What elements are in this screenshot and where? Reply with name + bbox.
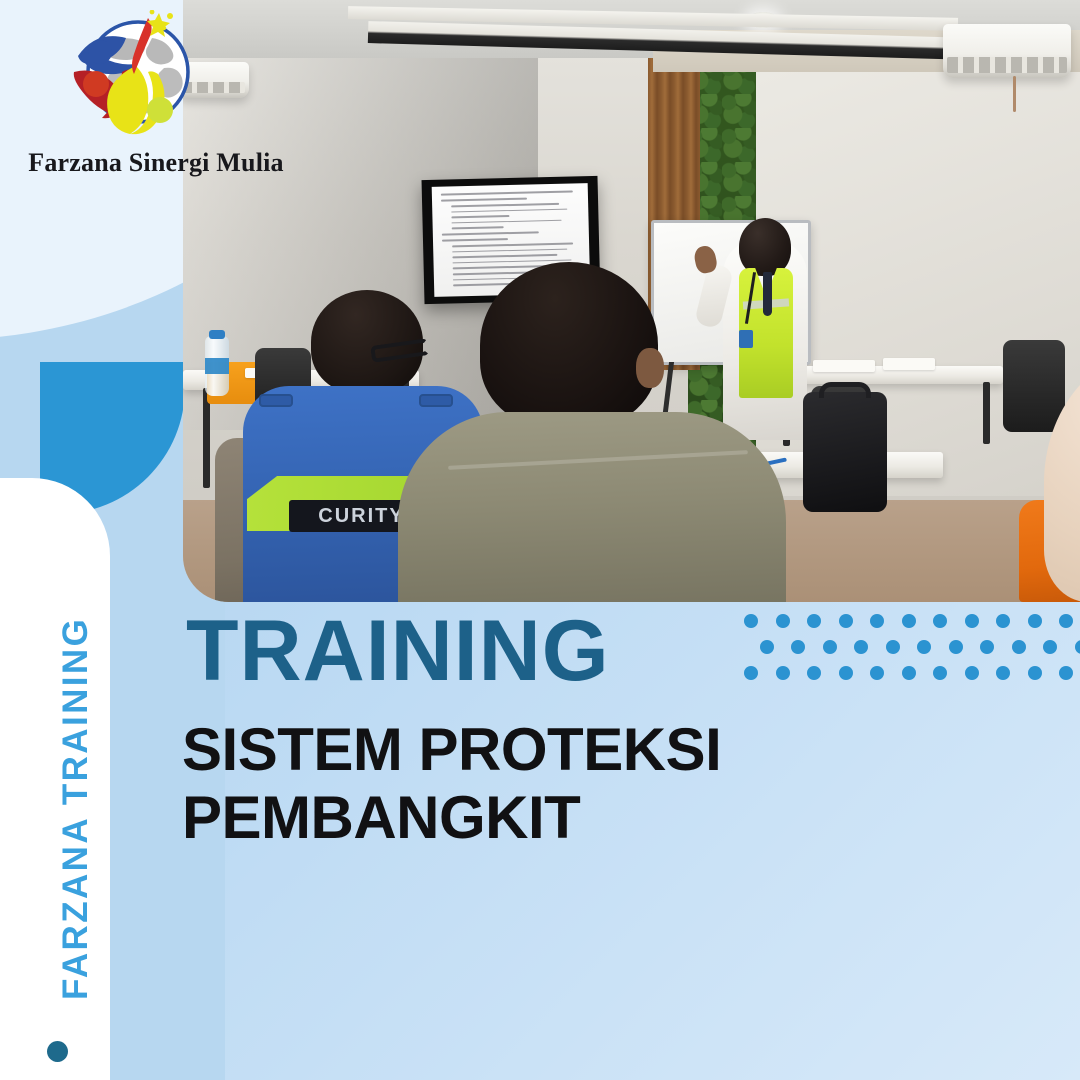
decorative-dot — [1028, 666, 1042, 680]
decorative-dot — [917, 640, 931, 654]
company-logo: Farzana Sinergi Mulia — [56, 10, 256, 190]
decorative-dot — [744, 666, 758, 680]
instructor-tie — [763, 272, 772, 316]
decorative-dot — [965, 666, 979, 680]
decorative-dot — [965, 614, 979, 628]
dot-grid-decoration — [744, 614, 1080, 684]
document-on-table — [813, 360, 875, 372]
decorative-dot — [1012, 640, 1026, 654]
decorative-dot — [870, 614, 884, 628]
instructor-head — [739, 218, 791, 276]
sidebar-brand-label: FARZANA TRAINING — [56, 580, 96, 1000]
decorative-dot — [823, 640, 837, 654]
document-on-table — [883, 358, 935, 370]
participant-shirt — [398, 412, 786, 602]
ac-vent — [947, 57, 1067, 73]
decorative-dot — [776, 614, 790, 628]
bottle-label — [205, 358, 229, 374]
participant-head — [480, 262, 658, 428]
decorative-dot — [902, 666, 916, 680]
decorative-dot — [902, 614, 916, 628]
decorative-dot — [996, 614, 1010, 628]
page-subtitle-line-2: PEMBANGKIT — [182, 784, 721, 852]
decorative-dot — [886, 640, 900, 654]
decorative-dot — [807, 666, 821, 680]
decorative-dot — [839, 614, 853, 628]
decorative-dot — [1059, 614, 1073, 628]
globe-people-star-logo-icon — [60, 10, 220, 138]
sidebar-bullet-dot — [47, 1041, 68, 1062]
page-subtitle: SISTEM PROTEKSI PEMBANGKIT — [182, 716, 721, 853]
decorative-dot — [1059, 666, 1073, 680]
decorative-dot — [1028, 614, 1042, 628]
decorative-dot — [760, 640, 774, 654]
decorative-dot — [996, 666, 1010, 680]
instructor-id-badge — [739, 330, 753, 348]
decorative-dot — [1075, 640, 1080, 654]
decorative-dot — [870, 666, 884, 680]
ac-cord — [1013, 76, 1016, 112]
decorative-dot — [776, 666, 790, 680]
decorative-dot — [744, 614, 758, 628]
participant-ear — [636, 348, 664, 388]
training-photo: IEF CURITY — [183, 0, 1080, 602]
decorative-dot — [933, 614, 947, 628]
laptop-bag — [803, 392, 887, 512]
decorative-dot — [807, 614, 821, 628]
laptop-bag-handle — [819, 382, 871, 398]
decorative-dot — [839, 666, 853, 680]
bottle-cap — [209, 330, 225, 339]
decorative-dot — [854, 640, 868, 654]
decorative-dot — [1043, 640, 1057, 654]
air-conditioner-icon — [943, 24, 1071, 78]
company-name: Farzana Sinergi Mulia — [8, 148, 304, 178]
training-photo-scene: IEF CURITY — [183, 0, 1080, 602]
page-title: TRAINING — [186, 608, 610, 694]
decorative-dot — [980, 640, 994, 654]
page-subtitle-line-1: SISTEM PROTEKSI — [182, 716, 721, 784]
chair — [1003, 340, 1065, 432]
poster-canvas: IEF CURITY TRAINING SISTEM — [0, 0, 1080, 1080]
decorative-dot — [949, 640, 963, 654]
decorative-dot — [791, 640, 805, 654]
decorative-dot — [933, 666, 947, 680]
